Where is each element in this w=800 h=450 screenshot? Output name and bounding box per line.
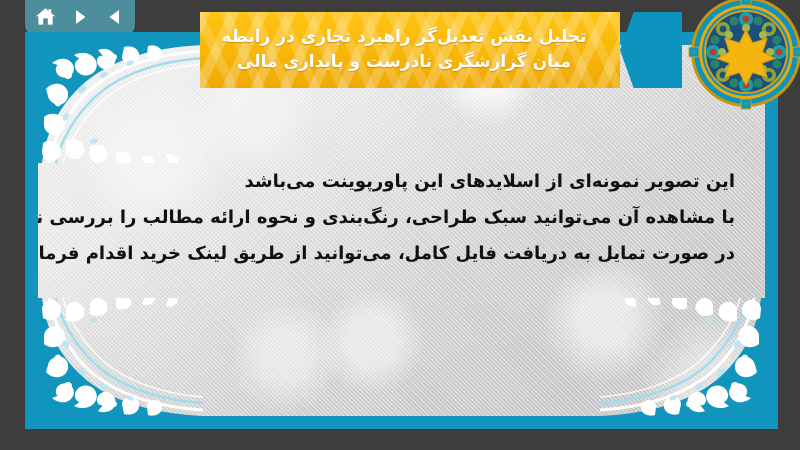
title-line-2: میان گزارشگری نادرست و پایداری مالی xyxy=(237,50,571,75)
home-icon xyxy=(35,7,56,27)
body-line-3: در صورت تمایل به دریافت فایل کامل، می‌تو… xyxy=(98,245,735,263)
navigation-bar xyxy=(25,0,135,34)
forward-button[interactable] xyxy=(68,5,92,29)
arabesque-corner-bottom-right-icon xyxy=(600,298,765,416)
back-button[interactable] xyxy=(103,5,127,29)
persian-mandala-medallion-icon xyxy=(688,0,800,110)
arabesque-corner-bottom-left-icon xyxy=(38,298,203,416)
slide-body-text: این تصویر نمونه‌ای از اسلایدهای این پاور… xyxy=(98,173,735,263)
slide-canvas: این تصویر نمونه‌ای از اسلایدهای این پاور… xyxy=(38,45,765,416)
home-button[interactable] xyxy=(33,5,57,29)
banner-arrow-tab-icon xyxy=(620,12,682,88)
triangle-right-icon xyxy=(71,8,89,26)
title-line-1: تحلیل نقش تعدیل‌گر راهبرد تجاری در رابطه xyxy=(221,25,586,50)
banner-body: تحلیل نقش تعدیل‌گر راهبرد تجاری در رابطه… xyxy=(200,12,620,88)
slide-viewer: این تصویر نمونه‌ای از اسلایدهای این پاور… xyxy=(0,0,800,450)
arabesque-corner-top-left-icon xyxy=(38,45,203,163)
body-line-2: با مشاهده آن می‌توانید سبک طراحی، رنگ‌بن… xyxy=(98,209,735,227)
slide-frame: این تصویر نمونه‌ای از اسلایدهای این پاور… xyxy=(25,32,778,429)
triangle-left-icon xyxy=(106,8,124,26)
body-line-1: این تصویر نمونه‌ای از اسلایدهای این پاور… xyxy=(98,173,735,191)
slide-title-banner: تحلیل نقش تعدیل‌گر راهبرد تجاری در رابطه… xyxy=(200,12,682,88)
